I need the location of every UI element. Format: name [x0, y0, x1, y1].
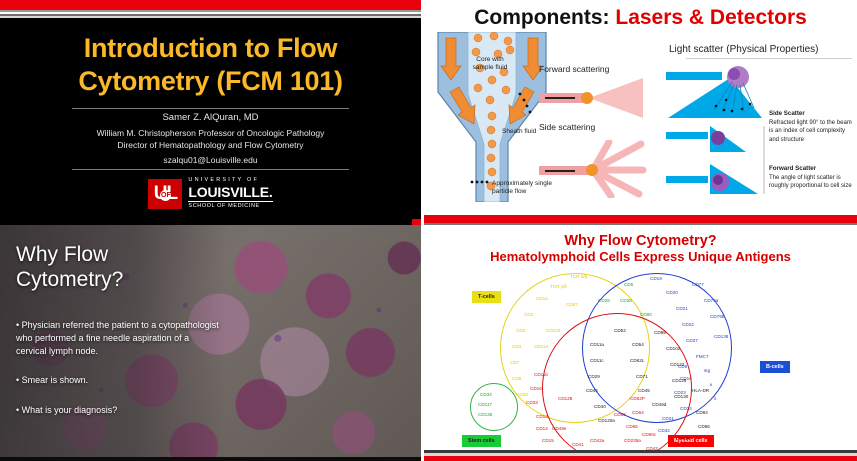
side-scatter-caption-text: Refracted light 90° to the beam is an in…	[769, 120, 852, 142]
forward-scatter-caption-title: Forward Scatter	[769, 165, 853, 173]
antigen-label: CD122	[670, 363, 684, 368]
presenter-role: William M. Christopherson Professor of O…	[0, 128, 421, 151]
forward-scatter-detector-diagram	[666, 124, 774, 196]
slide-contact-sheet: Introduction to Flow Cytometry (FCM 101)…	[0, 0, 857, 461]
title-line-1: Introduction to Flow	[0, 32, 421, 65]
presenter-email: szalqu01@Louisville.edu	[0, 155, 421, 165]
antigen-label: CD37	[686, 339, 698, 344]
divider-bottom	[72, 169, 349, 170]
antigen-label: CD33	[526, 401, 538, 406]
antigen-label: CD134	[534, 345, 548, 350]
bottom-red-band	[424, 215, 857, 223]
antigen-label: CD79b	[710, 315, 724, 320]
components-title-accent: Lasers & Detectors	[615, 6, 806, 29]
antigen-label: CD28	[516, 393, 528, 398]
antigen-label: CD66c	[642, 433, 656, 438]
antigen-label: CD102	[666, 347, 680, 352]
list-item: • What is your diagnosis?	[16, 404, 221, 417]
page-title: Introduction to Flow Cytometry (FCM 101)	[0, 32, 421, 99]
antigen-label: TCR α/β	[570, 275, 587, 280]
side-scatter-caption: Side Scatter Refracted light 90° to the …	[769, 110, 853, 144]
antigen-label: CD154	[676, 437, 690, 442]
bottom-black-band	[0, 457, 421, 461]
antigen-label: CD16	[530, 387, 542, 392]
light-scatter-heading: Light scatter (Physical Properties)	[669, 44, 819, 55]
ul-monogram-of: OF	[160, 190, 171, 201]
slide-hematolymphoid-antigens-venn[interactable]: Why Flow Cytometry? Hematolymphoid Cells…	[421, 225, 857, 461]
antigen-label: CD52	[614, 329, 626, 334]
antigen-label: CD235a	[624, 439, 641, 444]
antigen-label: λ	[714, 397, 716, 402]
antigen-label: CD117	[478, 403, 492, 408]
components-title-main: Components:	[474, 6, 609, 29]
logo-line-2: LOUISVILLE.	[188, 185, 272, 199]
antigen-label: CD135	[478, 413, 492, 418]
side-scattering-label: Side scattering	[539, 122, 595, 132]
antigen-label: CD62P	[630, 397, 645, 402]
antigen-label: CD42a	[590, 439, 604, 444]
role-line-1: William M. Christopherson Professor of O…	[0, 128, 421, 140]
light-scatter-divider	[686, 58, 852, 59]
antigen-label: CD22	[682, 323, 694, 328]
list-item: • Physician referred the patient to a cy…	[16, 319, 221, 357]
logo-line-1: UNIVERSITY OF	[188, 178, 272, 184]
why-title-line-2: Cytometry?	[16, 268, 166, 293]
bullet-list: • Physician referred the patient to a cy…	[16, 319, 221, 434]
antigen-label: CD5	[624, 283, 633, 288]
venn-label-t-cells: T-cells	[472, 291, 501, 303]
antigen-label: CD84	[696, 411, 708, 416]
venn-label-b-cells: B-cells	[760, 361, 790, 373]
role-line-2: Director of Hematopathology and Flow Cyt…	[0, 140, 421, 152]
venn-diagram: T-cells B-cells Myeloid cells Stem cells…	[424, 269, 857, 455]
antigen-label: CD32	[658, 429, 670, 434]
antigen-label: CD1a	[536, 297, 548, 302]
forward-scattering-diagram	[539, 76, 659, 120]
antigen-label: CD25	[598, 299, 610, 304]
antigen-label: CD130	[674, 395, 688, 400]
antigen-label: CD44	[586, 389, 598, 394]
university-of-louisville-logo: UL OF UNIVERSITY OF LOUISVILLE. SCHOOL O…	[0, 178, 421, 209]
antigen-label: CD95	[654, 331, 666, 336]
antigen-label: CD3	[516, 329, 525, 334]
side-scattering-diagram	[539, 140, 659, 198]
antigen-label: CD80	[640, 313, 652, 318]
antigen-label: TCR γ/δ	[550, 285, 567, 290]
forward-scattering-label: Forward scattering	[539, 64, 609, 74]
antigen-label: CD64	[632, 411, 644, 416]
antigen-label: CD68	[614, 413, 626, 418]
antigen-label: CD38	[620, 299, 632, 304]
antigen-label: CD126	[672, 379, 686, 384]
antigen-label: CD11b	[534, 373, 548, 378]
venn-label-myeloid-cells: Myeloid cells	[668, 435, 714, 447]
antigen-label: CD20	[666, 291, 678, 296]
antigen-label: κ	[710, 383, 712, 388]
title-line-2: Cytometry (FCM 101)	[0, 65, 421, 98]
antigen-label: CD13	[536, 415, 548, 420]
slide-components-lasers-detectors[interactable]: Components: Lasers & Detectors	[421, 0, 857, 225]
antigen-label: CD40	[594, 405, 606, 410]
core-fluid-label: Core with sample fluid	[467, 56, 513, 73]
forward-scatter-caption: Forward Scatter The angle of light scatt…	[769, 165, 853, 191]
antigen-label: CD31	[662, 417, 674, 422]
antigen-label: CD77	[692, 283, 704, 288]
antigen-label: CD120a	[598, 419, 615, 424]
antigen-label: sIg	[704, 369, 710, 374]
why-title-line-1: Why Flow	[16, 243, 166, 268]
antigen-label: CD54	[632, 343, 644, 348]
antigen-label: CD19	[650, 277, 662, 282]
antigen-label: HLA-DR	[692, 389, 709, 394]
antigen-label: CD7	[510, 361, 519, 366]
page-title: Why Flow Cytometry? Hematolymphoid Cells…	[424, 233, 857, 265]
antigen-label: CD65	[626, 425, 638, 430]
top-red-band	[0, 0, 421, 10]
antigen-label: CD86	[698, 425, 710, 430]
slide-why-flow-cytometry-case[interactable]: Why Flow Cytometry? • Physician referred…	[0, 225, 421, 461]
forward-scatter-caption-text: The angle of light scatter is roughly pr…	[769, 175, 852, 189]
antigen-label: CD11c	[590, 359, 604, 364]
antigen-label: CD11a	[590, 343, 604, 348]
antigen-label: CD49d	[652, 403, 666, 408]
antigen-label: CD4	[512, 345, 521, 350]
antigen-label: CD45	[638, 389, 650, 394]
antigen-label: CD138	[714, 335, 728, 340]
venn-title-line-2: Hematolymphoid Cells Express Unique Anti…	[424, 250, 857, 265]
antigen-label: CD29	[588, 375, 600, 380]
venn-title-line-1: Why Flow Cytometry?	[424, 233, 857, 250]
antigen-label: CD128	[558, 397, 572, 402]
antigen-label: CD62L	[630, 359, 644, 364]
slide-introduction-title[interactable]: Introduction to Flow Cytometry (FCM 101)…	[0, 0, 421, 225]
antigen-label: CD24	[680, 407, 692, 412]
list-item: • Smear is shown.	[16, 374, 221, 387]
page-title: Components: Lasers & Detectors	[424, 6, 857, 30]
divider-top	[72, 108, 349, 109]
antigen-label: CD79a	[704, 299, 718, 304]
antigen-label: CD14	[536, 427, 548, 432]
antigen-label: CD15	[542, 439, 554, 444]
presenter-name: Samer Z. AlQuran, MD	[0, 112, 421, 123]
antigen-label: CD2	[524, 313, 533, 318]
antigen-label: CD49e	[552, 427, 566, 432]
antigen-label: CD21	[676, 307, 688, 312]
logo-line-3: SCHOOL OF MEDICINE	[188, 201, 272, 210]
side-scatter-caption-title: Side Scatter	[769, 110, 853, 118]
antigen-label: CD71	[636, 375, 648, 380]
antigen-label: CD41	[572, 443, 584, 448]
antigen-label: CD34	[480, 393, 492, 398]
antigen-label: CD57	[566, 303, 578, 308]
side-scatter-detector-diagram	[666, 66, 774, 122]
page-title: Why Flow Cytometry?	[16, 243, 166, 293]
ul-monogram-icon: UL OF	[148, 179, 182, 209]
venn-label-stem-cells: Stem cells	[462, 435, 501, 447]
sheath-fluid-label: Sheath fluid	[502, 128, 542, 136]
antigen-label: FMC7	[696, 355, 709, 360]
antigen-label: CD103	[546, 329, 560, 334]
bottom-red-band	[424, 456, 857, 461]
antigen-label: CD8	[512, 377, 521, 382]
logo-wordmark: UNIVERSITY OF LOUISVILLE. SCHOOL OF MEDI…	[188, 178, 272, 209]
